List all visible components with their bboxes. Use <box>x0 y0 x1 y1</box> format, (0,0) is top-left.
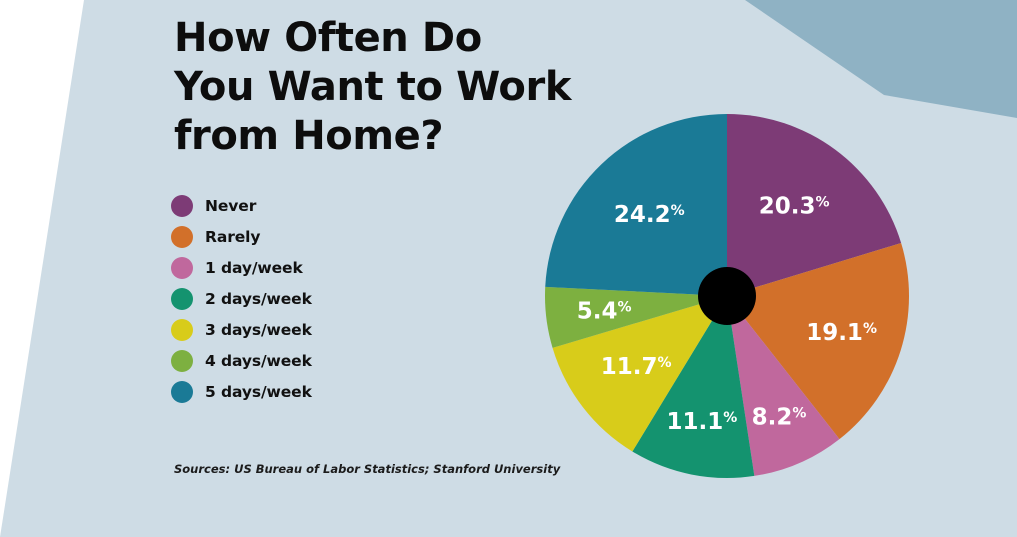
legend-item[interactable]: Never <box>171 190 312 221</box>
legend-swatch-icon <box>171 195 193 217</box>
slice-value: 8.2 <box>752 404 793 430</box>
legend-item[interactable]: 5 days/week <box>171 376 312 407</box>
legend-swatch-icon <box>171 288 193 310</box>
slice-percent-sign: % <box>671 203 685 219</box>
legend-swatch-icon <box>171 319 193 341</box>
legend-item[interactable]: 3 days/week <box>171 314 312 345</box>
legend-item-label: 5 days/week <box>205 383 312 401</box>
pie-chart: 20.3%19.1%8.2%11.1%11.7%5.4%24.2% <box>531 100 931 500</box>
pie-chart-svg: 20.3%19.1%8.2%11.1%11.7%5.4%24.2% <box>531 100 931 500</box>
slice-value: 19.1 <box>806 320 863 346</box>
slice-value: 11.7 <box>601 354 658 380</box>
legend-item-label: 2 days/week <box>205 290 312 308</box>
pie-center-hub <box>698 267 756 325</box>
slice-percent-sign: % <box>723 410 737 426</box>
legend-item-label: Never <box>205 197 256 215</box>
slice-value: 11.1 <box>667 409 724 435</box>
legend-swatch-icon <box>171 226 193 248</box>
legend-item-label: 4 days/week <box>205 352 312 370</box>
legend-item-label: 1 day/week <box>205 259 303 277</box>
infographic-canvas: How Often Do You Want to Work from Home?… <box>0 0 1017 537</box>
slice-value: 5.4 <box>577 299 618 325</box>
slice-percent-sign: % <box>658 355 672 371</box>
legend-swatch-icon <box>171 257 193 279</box>
legend-swatch-icon <box>171 381 193 403</box>
source-note: Sources: US Bureau of Labor Statistics; … <box>174 462 560 476</box>
legend-item[interactable]: 2 days/week <box>171 283 312 314</box>
slice-value: 20.3 <box>759 193 816 219</box>
slice-percent-sign: % <box>617 300 631 316</box>
slice-value: 24.2 <box>614 202 671 228</box>
legend-item[interactable]: 1 day/week <box>171 252 312 283</box>
legend-swatch-icon <box>171 350 193 372</box>
slice-percent-sign: % <box>816 194 830 210</box>
legend-item-label: Rarely <box>205 228 260 246</box>
slice-percent-sign: % <box>863 321 877 337</box>
chart-legend: NeverRarely1 day/week2 days/week3 days/w… <box>171 190 312 407</box>
legend-item[interactable]: Rarely <box>171 221 312 252</box>
slice-percent-sign: % <box>792 405 806 421</box>
legend-item-label: 3 days/week <box>205 321 312 339</box>
legend-item[interactable]: 4 days/week <box>171 345 312 376</box>
